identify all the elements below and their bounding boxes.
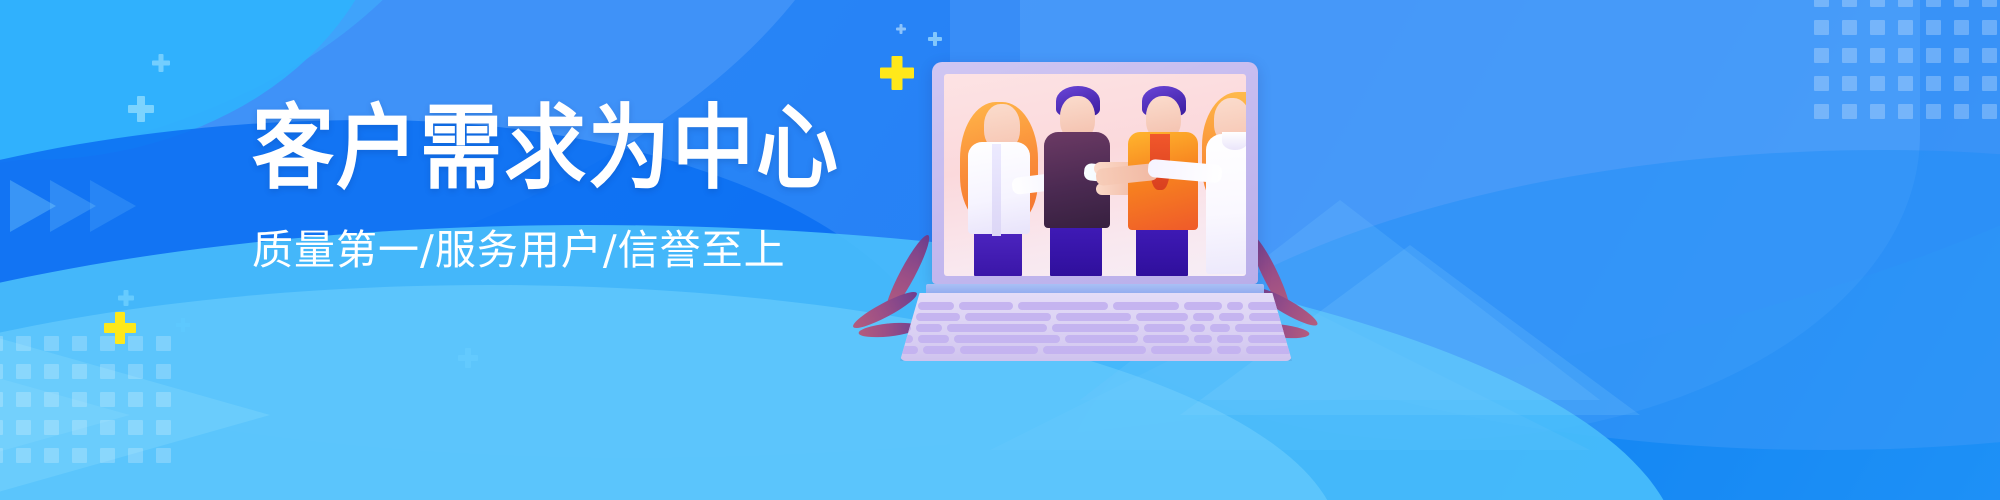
dot-cell bbox=[44, 392, 59, 407]
laptop-keyboard-base bbox=[900, 293, 1292, 361]
dot-cell bbox=[1814, 104, 1829, 119]
keyboard-row bbox=[900, 335, 1292, 343]
keyboard-key bbox=[900, 313, 911, 321]
keyboard-key bbox=[1143, 335, 1189, 343]
dot-cell bbox=[128, 364, 143, 379]
torso-white-dress bbox=[1206, 134, 1246, 274]
dot-grid-bottom-left bbox=[0, 336, 184, 476]
cardigan-lapel bbox=[992, 144, 1001, 236]
keyboard-key bbox=[1136, 313, 1188, 321]
dot-cell bbox=[44, 420, 59, 435]
dot-cell bbox=[1814, 0, 1829, 7]
plus-icon bbox=[118, 290, 134, 306]
dot-cell bbox=[1926, 48, 1941, 63]
keyboard-key bbox=[1210, 324, 1230, 332]
dot-cell bbox=[1926, 0, 1941, 7]
keyboard-key bbox=[1194, 335, 1211, 343]
dot-cell bbox=[72, 448, 87, 463]
keyboard-row bbox=[900, 346, 1292, 354]
dot-cell bbox=[100, 420, 115, 435]
dot-cell bbox=[44, 364, 59, 379]
keyboard-key bbox=[918, 335, 949, 343]
dot-cell bbox=[72, 336, 87, 351]
keyboard-key bbox=[916, 313, 959, 321]
dot-cell bbox=[1926, 104, 1941, 119]
plus-icon bbox=[152, 54, 170, 72]
dot-cell bbox=[1870, 20, 1885, 35]
dot-cell bbox=[16, 392, 31, 407]
dot-cell bbox=[128, 392, 143, 407]
dot-cell bbox=[1982, 20, 1997, 35]
dot-cell bbox=[1926, 20, 1941, 35]
dot-cell bbox=[1898, 76, 1913, 91]
dot-cell bbox=[16, 364, 31, 379]
keyboard-row bbox=[900, 313, 1292, 321]
dot-cell bbox=[100, 392, 115, 407]
dot-cell bbox=[1842, 0, 1857, 7]
plus-icon bbox=[176, 318, 190, 332]
keyboard-key bbox=[918, 302, 954, 310]
dot-cell bbox=[1814, 48, 1829, 63]
keyboard-key bbox=[1184, 302, 1222, 310]
plus-icon bbox=[458, 348, 478, 368]
dot-cell bbox=[1982, 76, 1997, 91]
keyboard-key bbox=[947, 324, 1047, 332]
dot-cell bbox=[100, 448, 115, 463]
dot-cell bbox=[1842, 20, 1857, 35]
dot-cell bbox=[72, 420, 87, 435]
dot-cell bbox=[1870, 104, 1885, 119]
dot-cell bbox=[1954, 0, 1969, 7]
dot-cell bbox=[0, 420, 3, 435]
dot-cell bbox=[1954, 48, 1969, 63]
dress-collar bbox=[1222, 132, 1246, 150]
dot-cell bbox=[0, 336, 3, 351]
keyboard-key bbox=[900, 346, 918, 354]
keyboard-key bbox=[959, 302, 1013, 310]
dot-cell bbox=[0, 392, 3, 407]
dot-cell bbox=[44, 336, 59, 351]
keyboard-key bbox=[1227, 302, 1243, 310]
dot-cell bbox=[128, 336, 143, 351]
keyboard-key bbox=[923, 346, 955, 354]
keyboard-key bbox=[1193, 313, 1214, 321]
dot-cell bbox=[156, 420, 171, 435]
dot-cell bbox=[72, 392, 87, 407]
keyboard-key bbox=[1217, 335, 1244, 343]
dot-cell bbox=[1870, 76, 1885, 91]
keyboard-key bbox=[1052, 324, 1139, 332]
person-woman-right bbox=[1196, 78, 1246, 276]
plus-icon-yellow bbox=[880, 56, 914, 90]
plus-icon bbox=[128, 96, 154, 122]
dot-cell bbox=[1898, 20, 1913, 35]
keyboard-key bbox=[1144, 324, 1185, 332]
dot-grid-top-right bbox=[1814, 0, 2000, 132]
keyboard-key bbox=[1190, 324, 1205, 332]
dot-cell bbox=[156, 392, 171, 407]
dot-cell bbox=[1982, 104, 1997, 119]
laptop-lid bbox=[932, 62, 1258, 284]
dot-cell bbox=[156, 336, 171, 351]
laptop-illustration bbox=[922, 62, 1268, 362]
banner-subheadline: 质量第一/服务用户/信誉至上 bbox=[252, 230, 812, 271]
chevron-icon bbox=[50, 180, 96, 232]
dot-cell bbox=[1898, 48, 1913, 63]
dot-cell bbox=[156, 448, 171, 463]
dot-cell bbox=[128, 448, 143, 463]
dot-cell bbox=[1954, 20, 1969, 35]
keyboard-key bbox=[1018, 302, 1108, 310]
dot-cell bbox=[156, 364, 171, 379]
keyboard-key bbox=[1219, 313, 1244, 321]
dot-cell bbox=[1842, 76, 1857, 91]
plus-icon-yellow bbox=[104, 312, 136, 344]
plus-icon bbox=[928, 32, 942, 46]
arrow-band-1 bbox=[0, 330, 270, 500]
keyboard-key bbox=[1043, 346, 1146, 354]
banner-headline: 客户需求为中心 bbox=[252, 104, 812, 196]
keyboard-row bbox=[900, 324, 1292, 332]
dot-cell bbox=[1870, 0, 1885, 7]
dot-cell bbox=[1954, 76, 1969, 91]
keyboard-key bbox=[916, 324, 943, 332]
dot-cell bbox=[16, 448, 31, 463]
keyboard-key bbox=[1113, 302, 1179, 310]
dot-cell bbox=[0, 364, 3, 379]
dot-cell bbox=[100, 336, 115, 351]
dot-cell bbox=[0, 448, 3, 463]
dot-cell bbox=[1898, 104, 1913, 119]
dot-cell bbox=[100, 364, 115, 379]
dot-cell bbox=[1982, 48, 1997, 63]
chevron-icon bbox=[10, 180, 56, 232]
laptop-screen bbox=[944, 74, 1246, 276]
dot-cell bbox=[1954, 104, 1969, 119]
keyboard-key bbox=[1056, 313, 1130, 321]
dot-cell bbox=[1814, 20, 1829, 35]
keyboard-key bbox=[960, 346, 1037, 354]
dot-cell bbox=[1926, 76, 1941, 91]
keyboard-key bbox=[900, 335, 913, 343]
chevron-icon bbox=[90, 180, 136, 232]
keyboard-key bbox=[1217, 346, 1240, 354]
dot-cell bbox=[44, 448, 59, 463]
keyboard-row bbox=[900, 302, 1292, 310]
hero-banner: 客户需求为中心 质量第一/服务用户/信誉至上 bbox=[0, 0, 2000, 500]
keyboard-key bbox=[1246, 346, 1292, 354]
keyboard-key bbox=[965, 313, 1052, 321]
person-woman-left bbox=[958, 86, 1044, 276]
dot-cell bbox=[16, 420, 31, 435]
dot-cell bbox=[1814, 76, 1829, 91]
arrow-band-2 bbox=[0, 345, 130, 485]
dot-cell bbox=[72, 364, 87, 379]
dot-cell bbox=[16, 336, 31, 351]
dot-cell bbox=[1870, 48, 1885, 63]
keyboard-key bbox=[954, 335, 1060, 343]
dot-cell bbox=[1842, 48, 1857, 63]
dot-cell bbox=[128, 420, 143, 435]
keyboard-key bbox=[1151, 346, 1213, 354]
dot-cell bbox=[1982, 0, 1997, 7]
keyboard-key bbox=[1065, 335, 1138, 343]
plus-icon bbox=[896, 24, 906, 34]
dot-cell bbox=[1898, 0, 1913, 7]
dot-cell bbox=[1842, 104, 1857, 119]
banner-text-block: 客户需求为中心 质量第一/服务用户/信誉至上 bbox=[252, 104, 812, 271]
